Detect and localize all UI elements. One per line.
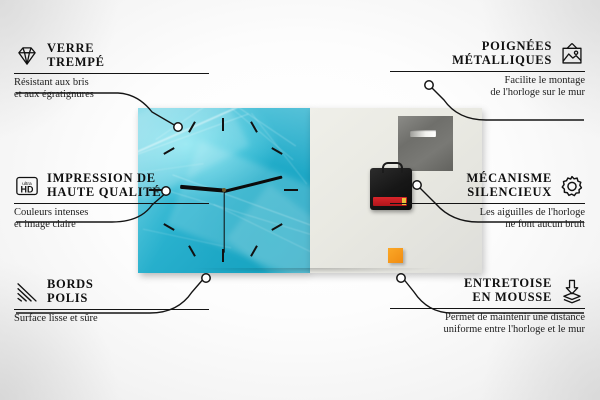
foam-spacer-icon (559, 278, 585, 304)
feature-header: MÉCANISME SILENCIEUX (390, 172, 585, 199)
feature-subtitle: Surface lisse et sûre (14, 313, 209, 325)
feature-verre-trempe: VERRE TREMPÉ Résistant aux bris et aux é… (14, 42, 209, 101)
feature-divider (14, 73, 209, 74)
feature-title: BORDS POLIS (47, 278, 94, 305)
feature-header: BORDS POLIS (14, 278, 209, 305)
feature-entretoise-en-mousse: ENTRETOISE EN MOUSSE Permet de maintenir… (390, 277, 585, 336)
feature-subtitle: Permet de maintenir une distance uniform… (390, 312, 585, 336)
feature-subtitle: Résistant aux bris et aux égratignures (14, 77, 209, 101)
wall-frame-icon (559, 41, 585, 67)
feature-divider (390, 71, 585, 72)
feature-impression-haute-qualite: ultra HD IMPRESSION DE HAUTE QUALITÉ Cou… (14, 172, 209, 231)
callout-dot-verre (174, 123, 182, 131)
feature-divider (390, 203, 585, 204)
feature-title: POIGNÉES MÉTALLIQUES (452, 40, 552, 67)
feature-poignees-metalliques: POIGNÉES MÉTALLIQUES Facilite le montage… (390, 40, 585, 99)
feature-subtitle: Facilite le montage de l'horloge sur le … (390, 75, 585, 99)
diamond-icon (14, 43, 40, 69)
feature-divider (390, 308, 585, 309)
feature-title: VERRE TREMPÉ (47, 42, 105, 69)
feature-header: POIGNÉES MÉTALLIQUES (390, 40, 585, 67)
feature-subtitle: Couleurs intenses et image claire (14, 207, 209, 231)
feature-subtitle: Les aiguilles de l'horloge ne font aucun… (390, 207, 585, 231)
feature-title: IMPRESSION DE HAUTE QUALITÉ (47, 172, 161, 199)
polished-edge-icon (14, 279, 40, 305)
feature-header: VERRE TREMPÉ (14, 42, 209, 69)
feature-divider (14, 309, 209, 310)
feature-title: ENTRETOISE EN MOUSSE (464, 277, 552, 304)
feature-title: MÉCANISME SILENCIEUX (467, 172, 552, 199)
feature-mecanisme-silencieux: MÉCANISME SILENCIEUX Les aiguilles de l'… (390, 172, 585, 231)
feature-header: ultra HD IMPRESSION DE HAUTE QUALITÉ (14, 172, 209, 199)
infographic-canvas: VERRE TREMPÉ Résistant aux bris et aux é… (0, 0, 600, 400)
gear-icon (559, 173, 585, 199)
feature-header: ENTRETOISE EN MOUSSE (390, 277, 585, 304)
feature-divider (14, 203, 209, 204)
svg-text:HD: HD (21, 184, 34, 194)
feature-bords-polis: BORDS POLIS Surface lisse et sûre (14, 278, 209, 325)
ultra-hd-icon: ultra HD (14, 173, 40, 199)
